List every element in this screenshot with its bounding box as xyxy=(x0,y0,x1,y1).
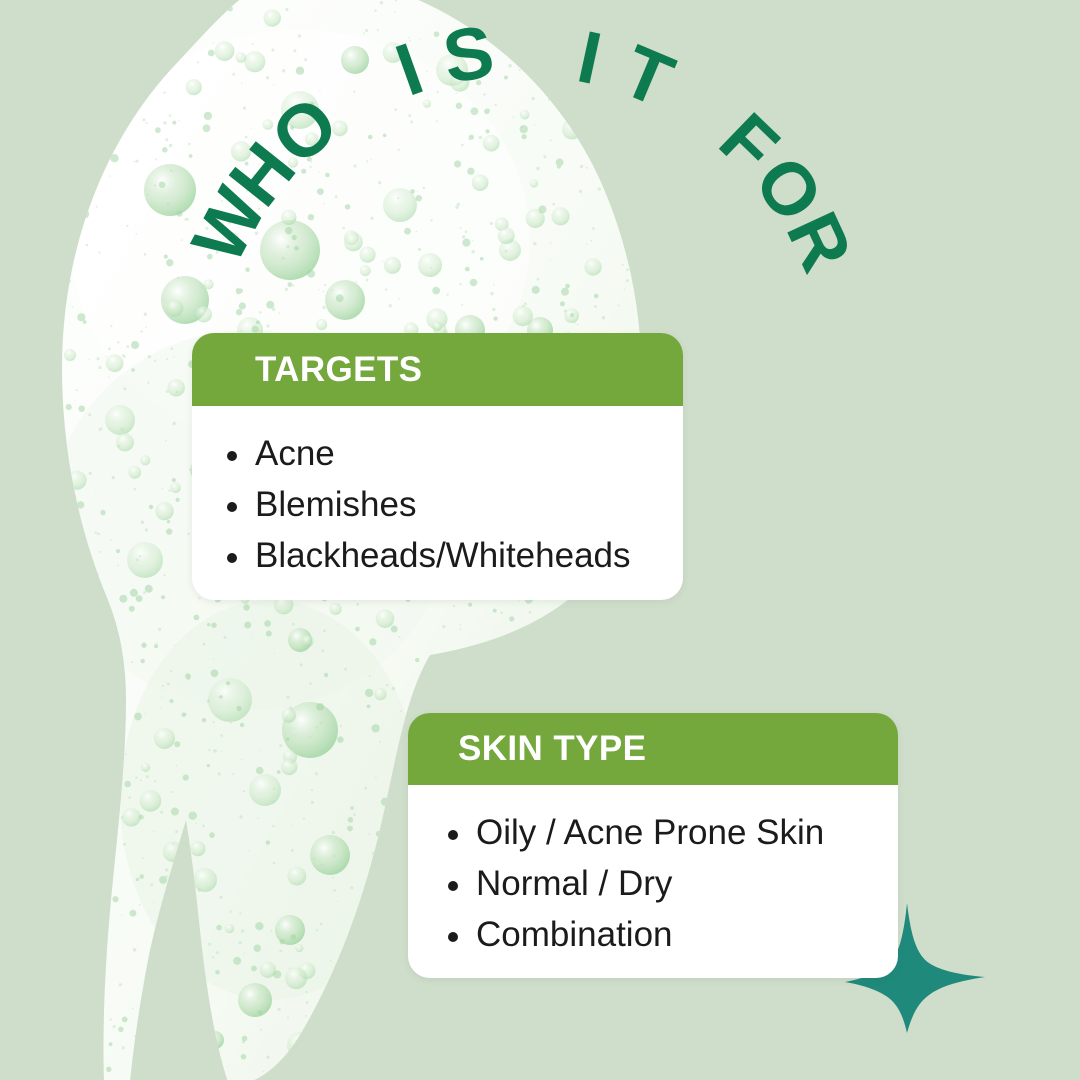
list-item-label: Blemishes xyxy=(255,485,416,524)
svg-text:I: I xyxy=(571,15,609,100)
bullet-icon xyxy=(227,553,237,563)
bullet-icon xyxy=(227,451,237,461)
skin-type-card-header: SKIN TYPE xyxy=(408,713,898,785)
list-item-label: Normal / Dry xyxy=(476,864,672,903)
targets-card-title: TARGETS xyxy=(255,350,422,390)
list-item: Blackheads/Whiteheads xyxy=(192,530,683,581)
targets-card-body: Acne Blemishes Blackheads/Whiteheads xyxy=(192,406,683,581)
bullet-icon xyxy=(448,932,458,942)
svg-text:T: T xyxy=(611,29,685,123)
infographic-canvas: WHOISITFOR TARGETS Acne Blemishes xyxy=(0,0,1080,1080)
bullet-icon xyxy=(227,502,237,512)
skin-type-card-body: Oily / Acne Prone Skin Normal / Dry Comb… xyxy=(408,785,898,960)
targets-list: Acne Blemishes Blackheads/Whiteheads xyxy=(192,406,683,581)
targets-card: TARGETS Acne Blemishes Blackheads/Whiteh… xyxy=(192,333,683,600)
list-item: Combination xyxy=(408,909,898,960)
skin-type-card-title: SKIN TYPE xyxy=(458,729,646,769)
targets-card-header: TARGETS xyxy=(192,333,683,406)
list-item: Normal / Dry xyxy=(408,858,898,909)
list-item-label: Blackheads/Whiteheads xyxy=(255,536,631,575)
list-item-label: Acne xyxy=(255,434,335,473)
list-item-label: Combination xyxy=(476,915,673,954)
list-item-label: Oily / Acne Prone Skin xyxy=(476,813,824,852)
bullet-icon xyxy=(448,881,458,891)
svg-text:S: S xyxy=(438,9,500,99)
list-item: Acne xyxy=(192,428,683,479)
svg-text:I: I xyxy=(386,27,433,112)
list-item: Blemishes xyxy=(192,479,683,530)
list-item: Oily / Acne Prone Skin xyxy=(408,807,898,858)
skin-type-card: SKIN TYPE Oily / Acne Prone Skin Normal … xyxy=(408,713,898,978)
skin-type-list: Oily / Acne Prone Skin Normal / Dry Comb… xyxy=(408,785,898,960)
bullet-icon xyxy=(448,830,458,840)
